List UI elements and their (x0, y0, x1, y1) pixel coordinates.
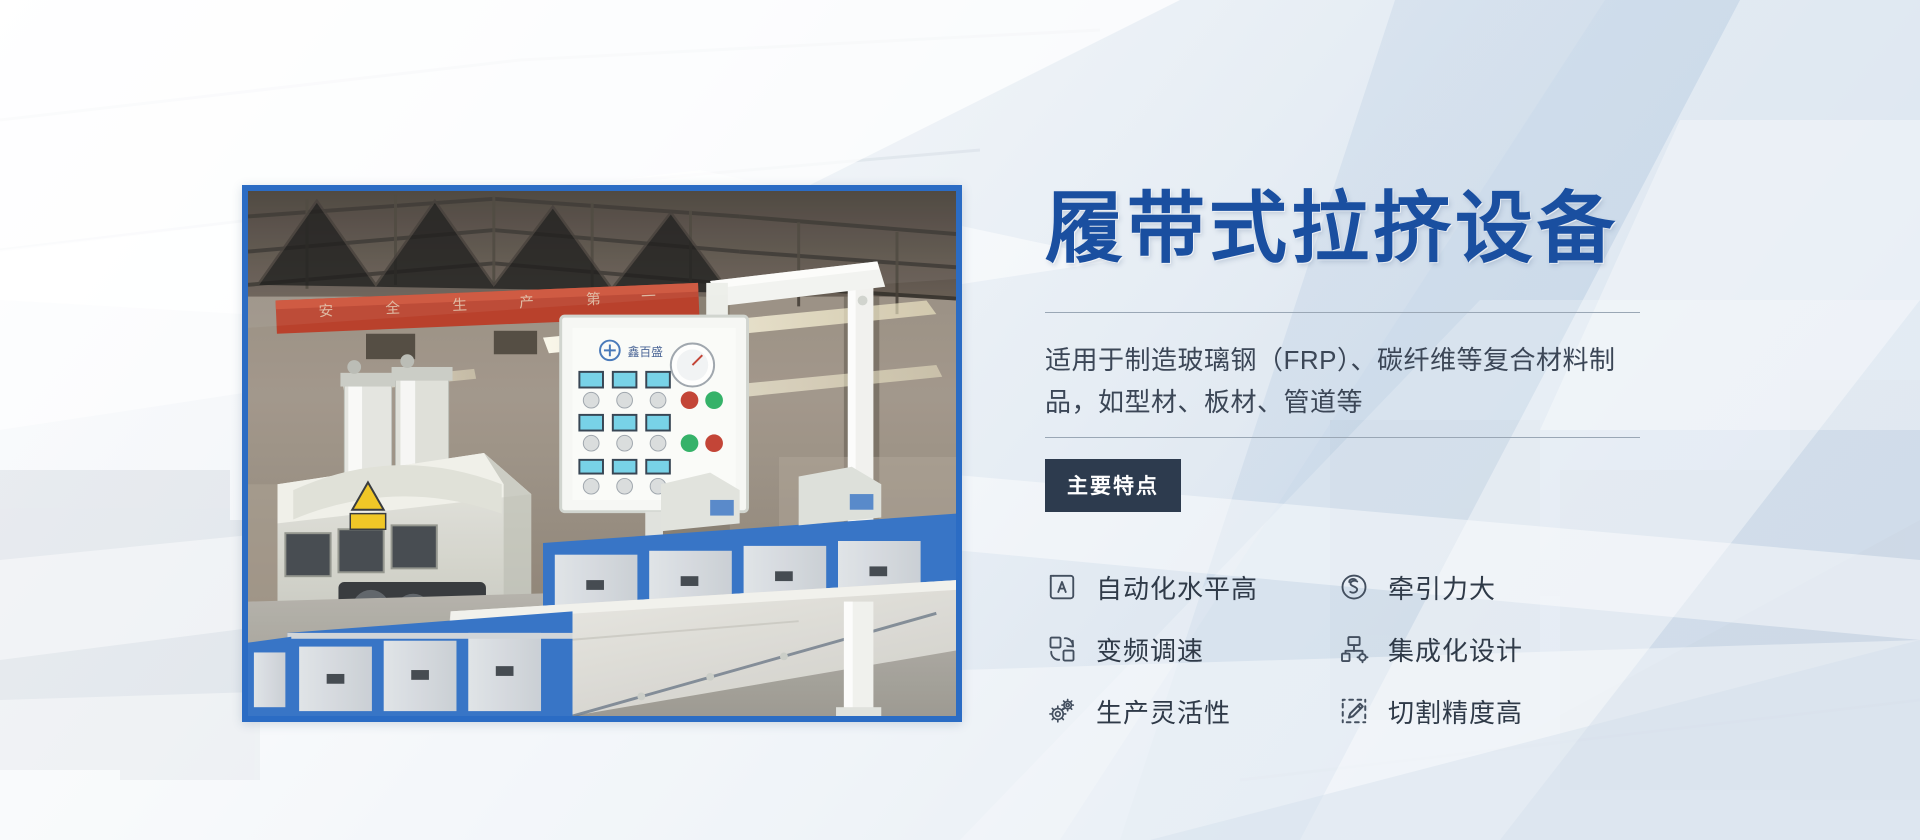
traction-icon (1337, 570, 1371, 604)
badge-row: 主要特点 (1045, 447, 1640, 512)
banner-content: 履带式拉挤设备 适用于制造玻璃钢（FRP）、碳纤维等复合材料制品，如型材、板材、… (1045, 186, 1685, 742)
integration-icon (1337, 632, 1371, 666)
status-badge: 主要特点 (1045, 459, 1181, 512)
product-photo: 安 全 生 产 第 一 (242, 185, 962, 722)
feature-label: 生产灵活性 (1096, 693, 1231, 730)
feature-item-flexibility: 生产灵活性 (1045, 693, 1337, 730)
gears-icon (1045, 694, 1079, 728)
divider-top (1045, 312, 1640, 313)
product-banner: 安 全 生 产 第 一 (0, 0, 1920, 840)
product-photo-illustration: 安 全 生 产 第 一 (248, 191, 956, 716)
feature-item-automation: 自动化水平高 (1045, 569, 1337, 606)
feature-item-integration: 集成化设计 (1337, 631, 1629, 668)
frequency-icon (1045, 632, 1079, 666)
feature-list: 自动化水平高 牵引力大 (1045, 556, 1685, 742)
feature-label: 集成化设计 (1388, 631, 1523, 668)
feature-label: 切割精度高 (1388, 693, 1523, 730)
automation-icon (1045, 570, 1079, 604)
cut-precision-icon (1337, 694, 1371, 728)
page-title: 履带式拉挤设备 (1045, 186, 1685, 270)
feature-item-frequency: 变频调速 (1045, 631, 1337, 668)
feature-label: 自动化水平高 (1096, 569, 1258, 606)
feature-item-cut-precision: 切割精度高 (1337, 693, 1629, 730)
feature-label: 牵引力大 (1388, 569, 1496, 606)
feature-label: 变频调速 (1096, 631, 1204, 668)
product-subtitle: 适用于制造玻璃钢（FRP）、碳纤维等复合材料制品，如型材、板材、管道等 (1045, 339, 1645, 423)
divider-bottom (1045, 437, 1640, 438)
feature-item-traction: 牵引力大 (1337, 569, 1629, 606)
